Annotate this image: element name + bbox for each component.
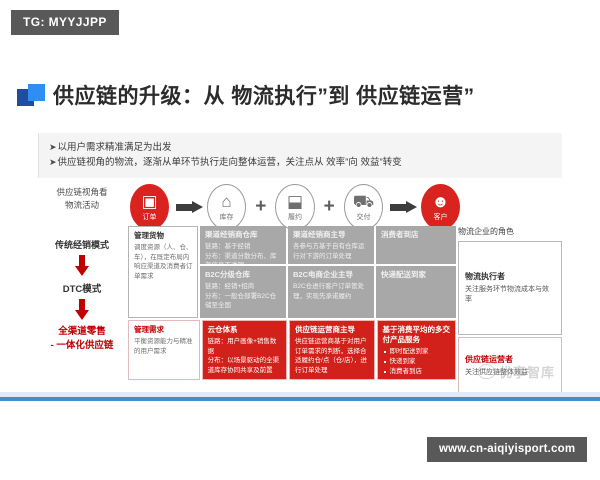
matrix-cell: 供应链运营商主导 供应链运营商基于对用户订单需求的判断，选择合适履约仓/点（仓/… <box>289 320 374 380</box>
flow-node-customer: ☻ 客户 <box>421 184 460 230</box>
flow-node-label: 库存 <box>220 212 234 222</box>
matrix-cell: 基于消费平均的多交付产品服务 即时配送到家 快递到家 消费者到店 <box>377 320 457 380</box>
matrix-cell: 渠道经销商仓库 链路：基于经销 分布：渠道分散分布、库存信息不透明 <box>200 226 286 264</box>
arrow-right-icon <box>176 201 200 213</box>
flow-node-fulfillment: ⬓ 履约 <box>275 184 314 230</box>
lead-body: 平衡资源能力与精准的用户需求 <box>134 337 195 356</box>
cell-title: 渠道经销商主导 <box>293 230 370 240</box>
flow-node-label: 交付 <box>356 212 370 222</box>
matrix-row: 管理货物 调度资源（人、仓、车），在既定布局内响应渠道及消费者订单需求 渠道经销… <box>128 226 456 318</box>
cell-sub-item: 消费者到店 <box>383 367 452 377</box>
bullet-text: 以用户需求精准满足为出发 <box>58 142 172 153</box>
matrix-cell: 云仓体系 链路：用户画像+销售数据 分布：以场景驱动的全渠道库存协同共享及前置 <box>202 320 287 380</box>
rail-stage-omnichannel-line1: 全渠道零售 <box>36 325 128 339</box>
matrix-row: 管理需求 平衡资源能力与精准的用户需求 云仓体系 链路：用户画像+销售数据 分布… <box>128 320 456 380</box>
package-icon: ⬓ <box>287 193 303 210</box>
wechat-icon <box>478 364 495 379</box>
cell-title: 消费者到店 <box>381 230 452 240</box>
lead-body: 调度资源（人、仓、车），在既定布局内响应渠道及消费者订单需求 <box>134 243 193 281</box>
flow-node-inventory: ⌂ 库存 <box>207 184 246 230</box>
title-square-logo-icon <box>17 84 45 106</box>
down-arrow-icon <box>75 255 89 277</box>
cell-body: 供应链运营商基于对用户订单需求的判断，选择合适履约仓/点（仓/店），进行订单处理 <box>295 337 369 375</box>
bullet-item: ➤供应链视角的物流，逐渐从单环节执行走向整体运营，关注点从 效率”向 效益”转变 <box>49 155 552 170</box>
matrix-cell: B2C分级仓库 链路：经销+招商 分布：一般仓部署B2C仓储至全国 <box>200 266 286 318</box>
cell-body: 链路：经销+招商 分布：一般仓部署B2C仓储至全国 <box>205 282 282 311</box>
cell-body: 链路：用户画像+销售数据 分布：以场景驱动的全渠道库存协同共享及前置 <box>208 337 282 375</box>
warehouse-icon: ⌂ <box>221 193 231 210</box>
tg-tag: TG: MYYJJPP <box>11 10 119 35</box>
role-column-header: 物流企业的角色 <box>458 226 562 237</box>
watermark: 优享智库 <box>478 362 555 381</box>
lead-title: 管理货物 <box>134 231 193 241</box>
down-arrow-icon <box>75 299 89 321</box>
rail-stage-dtc: DTC模式 <box>36 281 128 295</box>
arrow-right-icon <box>390 201 414 213</box>
plus-icon: + <box>255 196 266 218</box>
order-icon: ▣ <box>142 193 158 210</box>
flow-node-label: 履约 <box>288 212 302 222</box>
role-title: 物流执行者 <box>465 271 555 282</box>
page-title: 供应链的升级：从 物流执行”到 供应链运营” <box>53 80 475 110</box>
flow-node-delivery: ⛟ 交付 <box>344 184 383 230</box>
matrix: 管理货物 调度资源（人、仓、车），在既定布局内响应渠道及消费者订单需求 渠道经销… <box>128 226 456 380</box>
flow-node-label: 客户 <box>433 212 447 222</box>
customer-icon: ☻ <box>432 193 450 210</box>
bullet-panel: ➤以用户需求精准满足为出发 ➤供应链视角的物流，逐渐从单环节执行走向整体运营，关… <box>38 133 562 178</box>
cell-title: 云仓体系 <box>208 325 282 335</box>
bullet-item: ➤以用户需求精准满足为出发 <box>49 140 552 155</box>
cell-title: B2C电商企业主导 <box>293 270 370 280</box>
flow-row: ▣ 订单 ⌂ 库存 + ⬓ 履约 + ⛟ 交付 ☻ 客户 <box>130 182 460 232</box>
slide-title-row: 供应链的升级：从 物流执行”到 供应链运营” <box>17 80 475 110</box>
bullet-text: 供应链视角的物流，逐渐从单环节执行走向整体运营，关注点从 效率”向 效益”转变 <box>58 157 402 168</box>
cell-body: B2C仓进行客户订单管处理，实现先承诺履约 <box>293 282 370 301</box>
cell-title: B2C分级仓库 <box>205 270 282 280</box>
lead-title: 管理需求 <box>134 325 195 335</box>
rail-caption-line1: 供应链视角看 <box>36 186 128 199</box>
truck-icon: ⛟ <box>353 193 374 210</box>
cell-title: 供应链运营商主导 <box>295 325 369 335</box>
matrix-cell: 快递配送到家 <box>376 266 456 318</box>
plus-icon: + <box>324 196 335 218</box>
matrix-cell: 消费者到店 <box>376 226 456 264</box>
matrix-lead-manage-demand: 管理需求 平衡资源能力与精准的用户需求 <box>128 320 200 380</box>
cell-title: 快递配送到家 <box>381 270 452 280</box>
watermark-text: 优享智库 <box>499 362 555 381</box>
footer-url: www.cn-aiqiyisport.com <box>427 437 587 462</box>
cell-sub-item: 快递到家 <box>383 357 452 367</box>
flow-node-label: 订单 <box>143 212 157 222</box>
role-box-executor: 物流执行者 关注服务环节物流成本与效率 <box>458 241 562 335</box>
flow-node-order: ▣ 订单 <box>130 184 169 230</box>
matrix-row: B2C分级仓库 链路：经销+招商 分布：一般仓部署B2C仓储至全国 B2C电商企… <box>200 266 456 318</box>
cell-body: 链路：基于经销 分布：渠道分散分布、库存信息不透明 <box>205 242 282 264</box>
cell-title: 渠道经销商仓库 <box>205 230 282 240</box>
role-desc: 关注服务环节物流成本与效率 <box>465 285 555 305</box>
left-rail: 供应链视角看 物流活动 传统经销模式 DTC模式 全渠道零售 - 一体化供应链 <box>36 186 128 353</box>
rail-stage-traditional: 传统经销模式 <box>36 238 128 251</box>
cell-body: 各参与方基于自有仓库运行对下游的订单处理 <box>293 242 370 261</box>
rail-stage-omnichannel-line2: - 一体化供应链 <box>36 339 128 353</box>
rail-caption-line2: 物流活动 <box>36 199 128 212</box>
cell-title: 基于消费平均的多交付产品服务 <box>383 325 452 345</box>
matrix-lead-manage-goods: 管理货物 调度资源（人、仓、车），在既定布局内响应渠道及消费者订单需求 <box>128 226 198 318</box>
matrix-cell: 渠道经销商主导 各参与方基于自有仓库运行对下游的订单处理 <box>288 226 374 264</box>
bullet-arrow-icon: ➤ <box>49 157 57 167</box>
bullet-arrow-icon: ➤ <box>49 142 57 152</box>
matrix-cell: B2C电商企业主导 B2C仓进行客户订单管处理，实现先承诺履约 <box>288 266 374 318</box>
divider-blue <box>0 397 600 401</box>
cell-sub-item: 即时配送到家 <box>383 347 452 357</box>
